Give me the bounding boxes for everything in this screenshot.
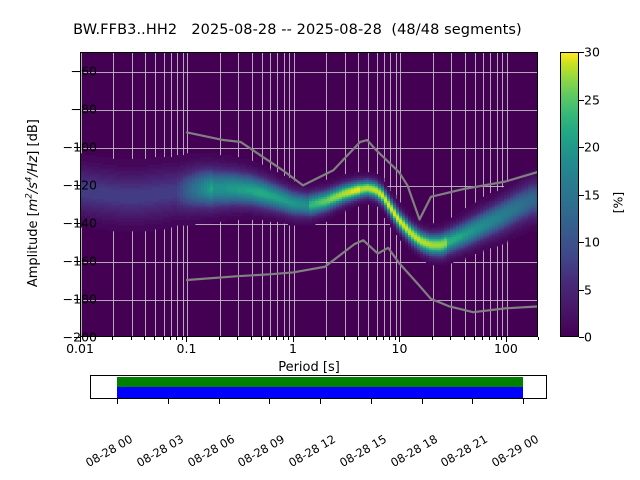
y-axis-label-m-exp: 2 — [25, 193, 35, 198]
colorbar — [560, 52, 579, 337]
x-tick-mark-minor — [395, 337, 396, 340]
x-tick-mark-minor — [464, 337, 465, 340]
colorbar-tick-mark — [579, 100, 584, 101]
timeline-tick-label: 08-28 12 — [286, 432, 338, 470]
colorbar-tick-mark — [579, 52, 584, 53]
x-tick-label: 10 — [392, 341, 408, 356]
colorbar-tick-label: 0 — [584, 330, 592, 345]
x-tick-mark-minor — [288, 337, 289, 340]
y-axis-label-prefix: Amplitude [ — [26, 211, 41, 287]
colorbar-tick-mark — [579, 242, 584, 243]
x-tick-mark-minor — [182, 337, 183, 340]
x-tick-mark-minor — [144, 337, 145, 340]
colorbar-tick-mark — [579, 337, 584, 338]
timeline-bar-blue — [117, 387, 523, 398]
x-tick-mark-minor — [376, 337, 377, 340]
x-tick-mark-minor — [269, 337, 270, 340]
y-tick-mark — [74, 147, 80, 148]
timeline-tick-label: 08-28 18 — [388, 432, 440, 470]
colorbar-tick-label: 30 — [584, 45, 600, 60]
timeline-tick-mark — [523, 399, 524, 404]
x-tick-label: 0.01 — [66, 341, 94, 356]
y-tick-mark — [74, 71, 80, 72]
x-tick-mark-minor — [325, 337, 326, 340]
x-tick-mark-minor — [112, 337, 113, 340]
x-tick-mark-minor — [251, 337, 252, 340]
timeline-coverage-bars — [117, 377, 523, 398]
colorbar-tick-label: 15 — [584, 187, 600, 202]
timeline-tick-mark — [219, 399, 220, 404]
y-axis-label-s-exp: 4 — [25, 177, 35, 182]
page-title: BW.FFB3..HH2 2025-08-28 -- 2025-08-28 (4… — [0, 22, 595, 38]
x-tick-mark-minor — [170, 337, 171, 340]
x-tick-mark-minor — [237, 337, 238, 340]
colorbar-tick-mark — [579, 195, 584, 196]
y-axis-label-suffix: ] [dB] — [26, 119, 41, 156]
x-tick-mark-minor — [367, 337, 368, 340]
x-tick-mark-minor — [163, 337, 164, 340]
timeline-tick-label: 08-29 00 — [489, 432, 541, 470]
colorbar-tick-label: 5 — [584, 282, 592, 297]
ppsd-plot-area — [80, 52, 538, 337]
x-axis-label: Period [s] — [80, 360, 538, 375]
timeline-tick-label: 08-28 09 — [235, 432, 287, 470]
x-tick-mark-minor — [474, 337, 475, 340]
noise-model-lines — [81, 53, 537, 336]
y-tick-mark — [74, 299, 80, 300]
x-tick-mark-minor — [389, 337, 390, 340]
x-tick-mark-minor — [496, 337, 497, 340]
x-tick-mark-minor — [501, 337, 502, 340]
timeline-tick-label: 08-28 03 — [134, 432, 186, 470]
x-tick-label: 0.1 — [177, 341, 197, 356]
x-tick-mark-minor — [276, 337, 277, 340]
colorbar-label: [%] — [611, 143, 626, 263]
timeline-tick-mark — [472, 399, 473, 404]
x-tick-mark-minor — [344, 337, 345, 340]
timeline-tick-label: 08-28 15 — [337, 432, 389, 470]
x-tick-label: 1 — [289, 341, 297, 356]
x-tick-mark-minor — [489, 337, 490, 340]
y-axis-label-slash1: /s — [26, 182, 41, 193]
x-tick-mark-minor — [482, 337, 483, 340]
timeline-tick-label: 08-28 06 — [185, 432, 237, 470]
colorbar-tick-label: 25 — [584, 92, 600, 107]
x-tick-mark-minor — [283, 337, 284, 340]
x-tick-mark-minor — [383, 337, 384, 340]
timeline-tick-mark — [320, 399, 321, 404]
y-axis-label-m: m — [26, 199, 41, 212]
timeline-tick-mark — [168, 399, 169, 404]
x-tick-mark-minor — [219, 337, 220, 340]
y-axis-label: Amplitude [m2/s4/Hz] [dB] — [25, 73, 41, 333]
timeline-tick-label: 08-28 21 — [438, 432, 490, 470]
timeline-tick-mark — [117, 399, 118, 404]
colorbar-tick-label: 10 — [584, 235, 600, 250]
y-axis-label-slash2: /Hz — [26, 156, 41, 177]
y-tick-mark — [74, 185, 80, 186]
y-tick-mark — [74, 261, 80, 262]
timeline-bar-green — [117, 377, 523, 388]
timeline-tick-label: 08-28 00 — [83, 432, 135, 470]
timeline-tick-mark — [371, 399, 372, 404]
x-tick-mark-minor — [432, 337, 433, 340]
x-tick-label: 100 — [494, 341, 518, 356]
x-tick-mark-minor — [357, 337, 358, 340]
x-tick-mark-minor — [538, 337, 539, 340]
x-tick-mark-minor — [131, 337, 132, 340]
timeline-tick-mark — [422, 399, 423, 404]
colorbar-tick-mark — [579, 147, 584, 148]
x-tick-mark-minor — [450, 337, 451, 340]
x-tick-mark-minor — [261, 337, 262, 340]
ppsd-canvas — [81, 53, 537, 336]
timeline-tick-mark — [269, 399, 270, 404]
x-tick-mark-minor — [176, 337, 177, 340]
colorbar-tick-label: 20 — [584, 140, 600, 155]
y-tick-mark — [74, 223, 80, 224]
y-tick-mark — [74, 109, 80, 110]
x-tick-mark-minor — [154, 337, 155, 340]
colorbar-tick-mark — [579, 290, 584, 291]
